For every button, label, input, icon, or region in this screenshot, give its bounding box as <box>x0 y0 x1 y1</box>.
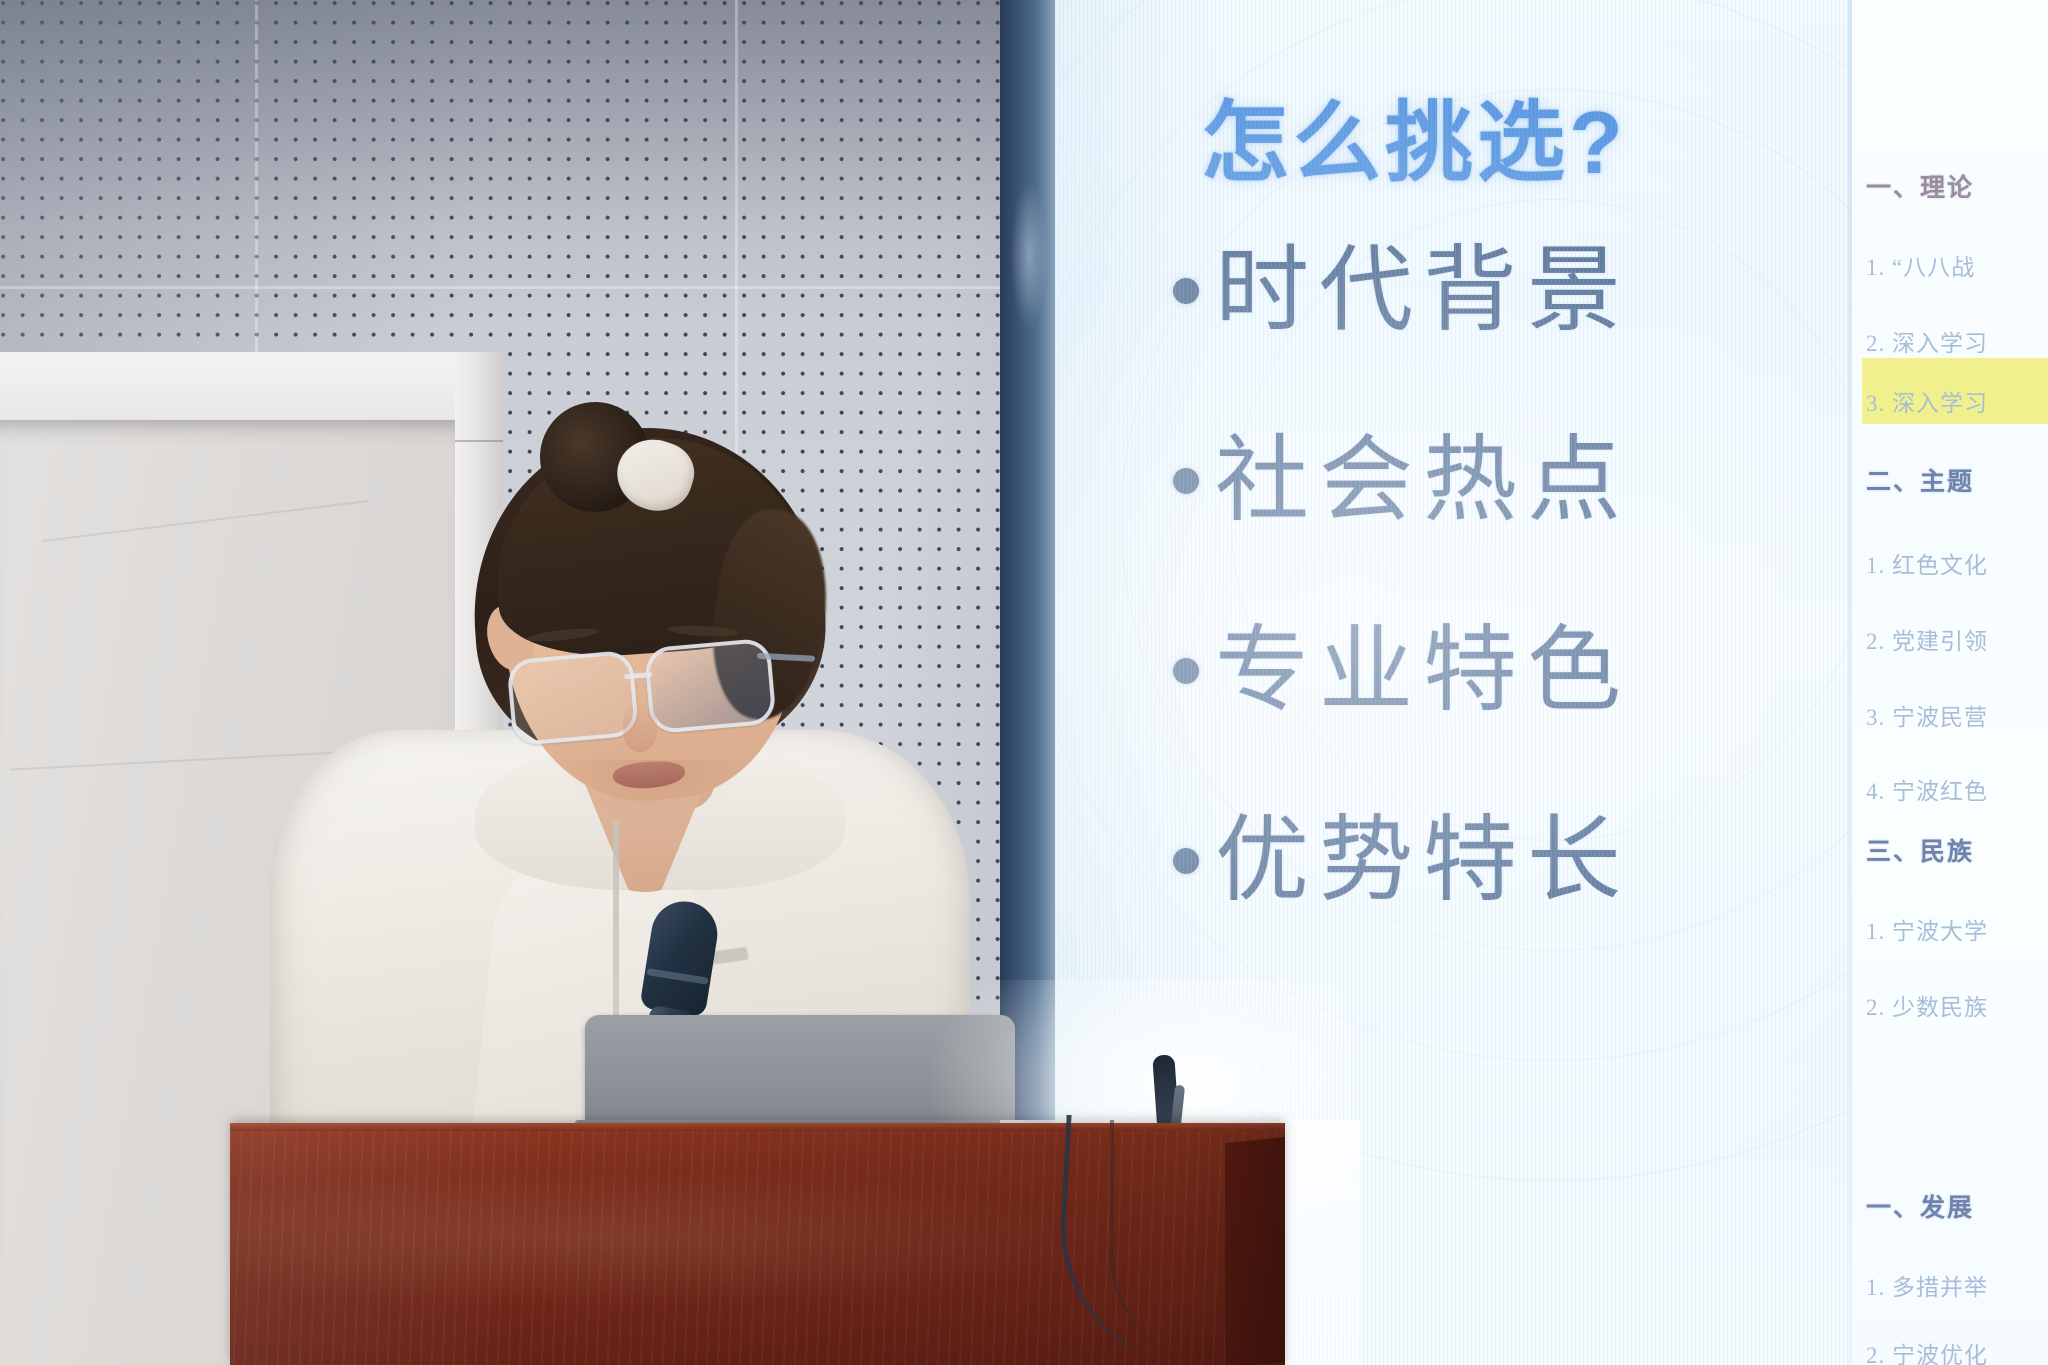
doc-section: 三、民族 <box>1866 832 2048 868</box>
bullet-label: 时代背景 <box>1215 244 1631 338</box>
doc-item-label: 2. 少数民族 <box>1866 988 2048 1022</box>
bullet-label: 社会热点 <box>1215 434 1631 528</box>
glasses-lens-right <box>644 638 777 735</box>
doc-item-label: 2. 宁波优化 <box>1866 1336 2048 1365</box>
doc-item-label: 2. 深入学习 <box>1866 324 2048 358</box>
list-item: 专业特色 <box>1173 576 1813 766</box>
left-wall-header <box>0 352 492 422</box>
presenter-nose <box>623 702 657 752</box>
bullet-dot-icon <box>1173 658 1199 684</box>
doc-item-highlighted: 3. 深入学习 <box>1866 384 2048 418</box>
doc-item: 1. “八八战 <box>1866 248 2048 282</box>
doc-item: 2. 宁波优化 <box>1866 1336 2048 1365</box>
wall-upper-shadow <box>0 0 1135 330</box>
panel-seam <box>0 286 1135 289</box>
list-item: 时代背景 <box>1173 196 1813 386</box>
doc-item-label: 1. 多措并举 <box>1866 1268 2048 1302</box>
doc-item-label: 1. 红色文化 <box>1866 546 2048 580</box>
doc-item: 1. 多措并举 <box>1866 1268 2048 1302</box>
bullet-label: 专业特色 <box>1215 624 1631 718</box>
doc-item-label: 2. 党建引领 <box>1866 622 2048 656</box>
doc-item-label: 1. “八八战 <box>1866 248 2048 282</box>
doc-item: 3. 宁波民营 <box>1866 698 2048 732</box>
doc-item: 2. 少数民族 <box>1866 988 2048 1022</box>
doc-section: 一、发展 <box>1866 1188 2048 1224</box>
doc-item-label: 4. 宁波红色 <box>1866 772 2048 806</box>
bullet-dot-icon <box>1173 468 1199 494</box>
presentation-photo: 怎么挑选? 时代背景 社会热点 专业特色 优势特长 <box>0 0 2048 1365</box>
doc-section-heading: 一、发展 <box>1866 1188 2048 1224</box>
bullet-label: 优势特长 <box>1215 814 1631 908</box>
doc-item: 2. 党建引领 <box>1866 622 2048 656</box>
doc-item: 1. 红色文化 <box>1866 546 2048 580</box>
doc-item: 2. 深入学习 <box>1866 324 2048 358</box>
doc-item-label: 3. 宁波民营 <box>1866 698 2048 732</box>
bullet-dot-icon <box>1173 278 1199 304</box>
screen-edge-glare <box>1010 180 1048 330</box>
doc-item: 4. 宁波红色 <box>1866 772 2048 806</box>
glasses-lens-left <box>506 650 639 747</box>
doc-section: 二、主题 <box>1866 462 2048 498</box>
doc-section-heading: 二、主题 <box>1866 462 2048 498</box>
doc-section: 一、理论 <box>1866 168 2048 204</box>
document-panel: 一、理论 1. “八八战 2. 深入学习 3. 深入学习 二、主题 1. 红色文… <box>1852 0 2048 1365</box>
bullet-dot-icon <box>1173 848 1199 874</box>
slide-bullet-list: 时代背景 社会热点 专业特色 优势特长 <box>1173 196 1813 956</box>
doc-section-heading: 一、理论 <box>1866 168 2048 204</box>
list-item: 社会热点 <box>1173 386 1813 576</box>
laptop <box>585 1015 1015 1135</box>
doc-item: 1. 宁波大学 <box>1866 912 2048 946</box>
doc-section-heading: 三、民族 <box>1866 832 2048 868</box>
slide-title: 怎么挑选? <box>1201 72 1627 199</box>
presenter-chin-shadow <box>555 760 745 820</box>
doc-item-label: 3. 深入学习 <box>1866 384 2048 418</box>
doc-item-label: 1. 宁波大学 <box>1866 912 2048 946</box>
list-item: 优势特长 <box>1173 766 1813 956</box>
